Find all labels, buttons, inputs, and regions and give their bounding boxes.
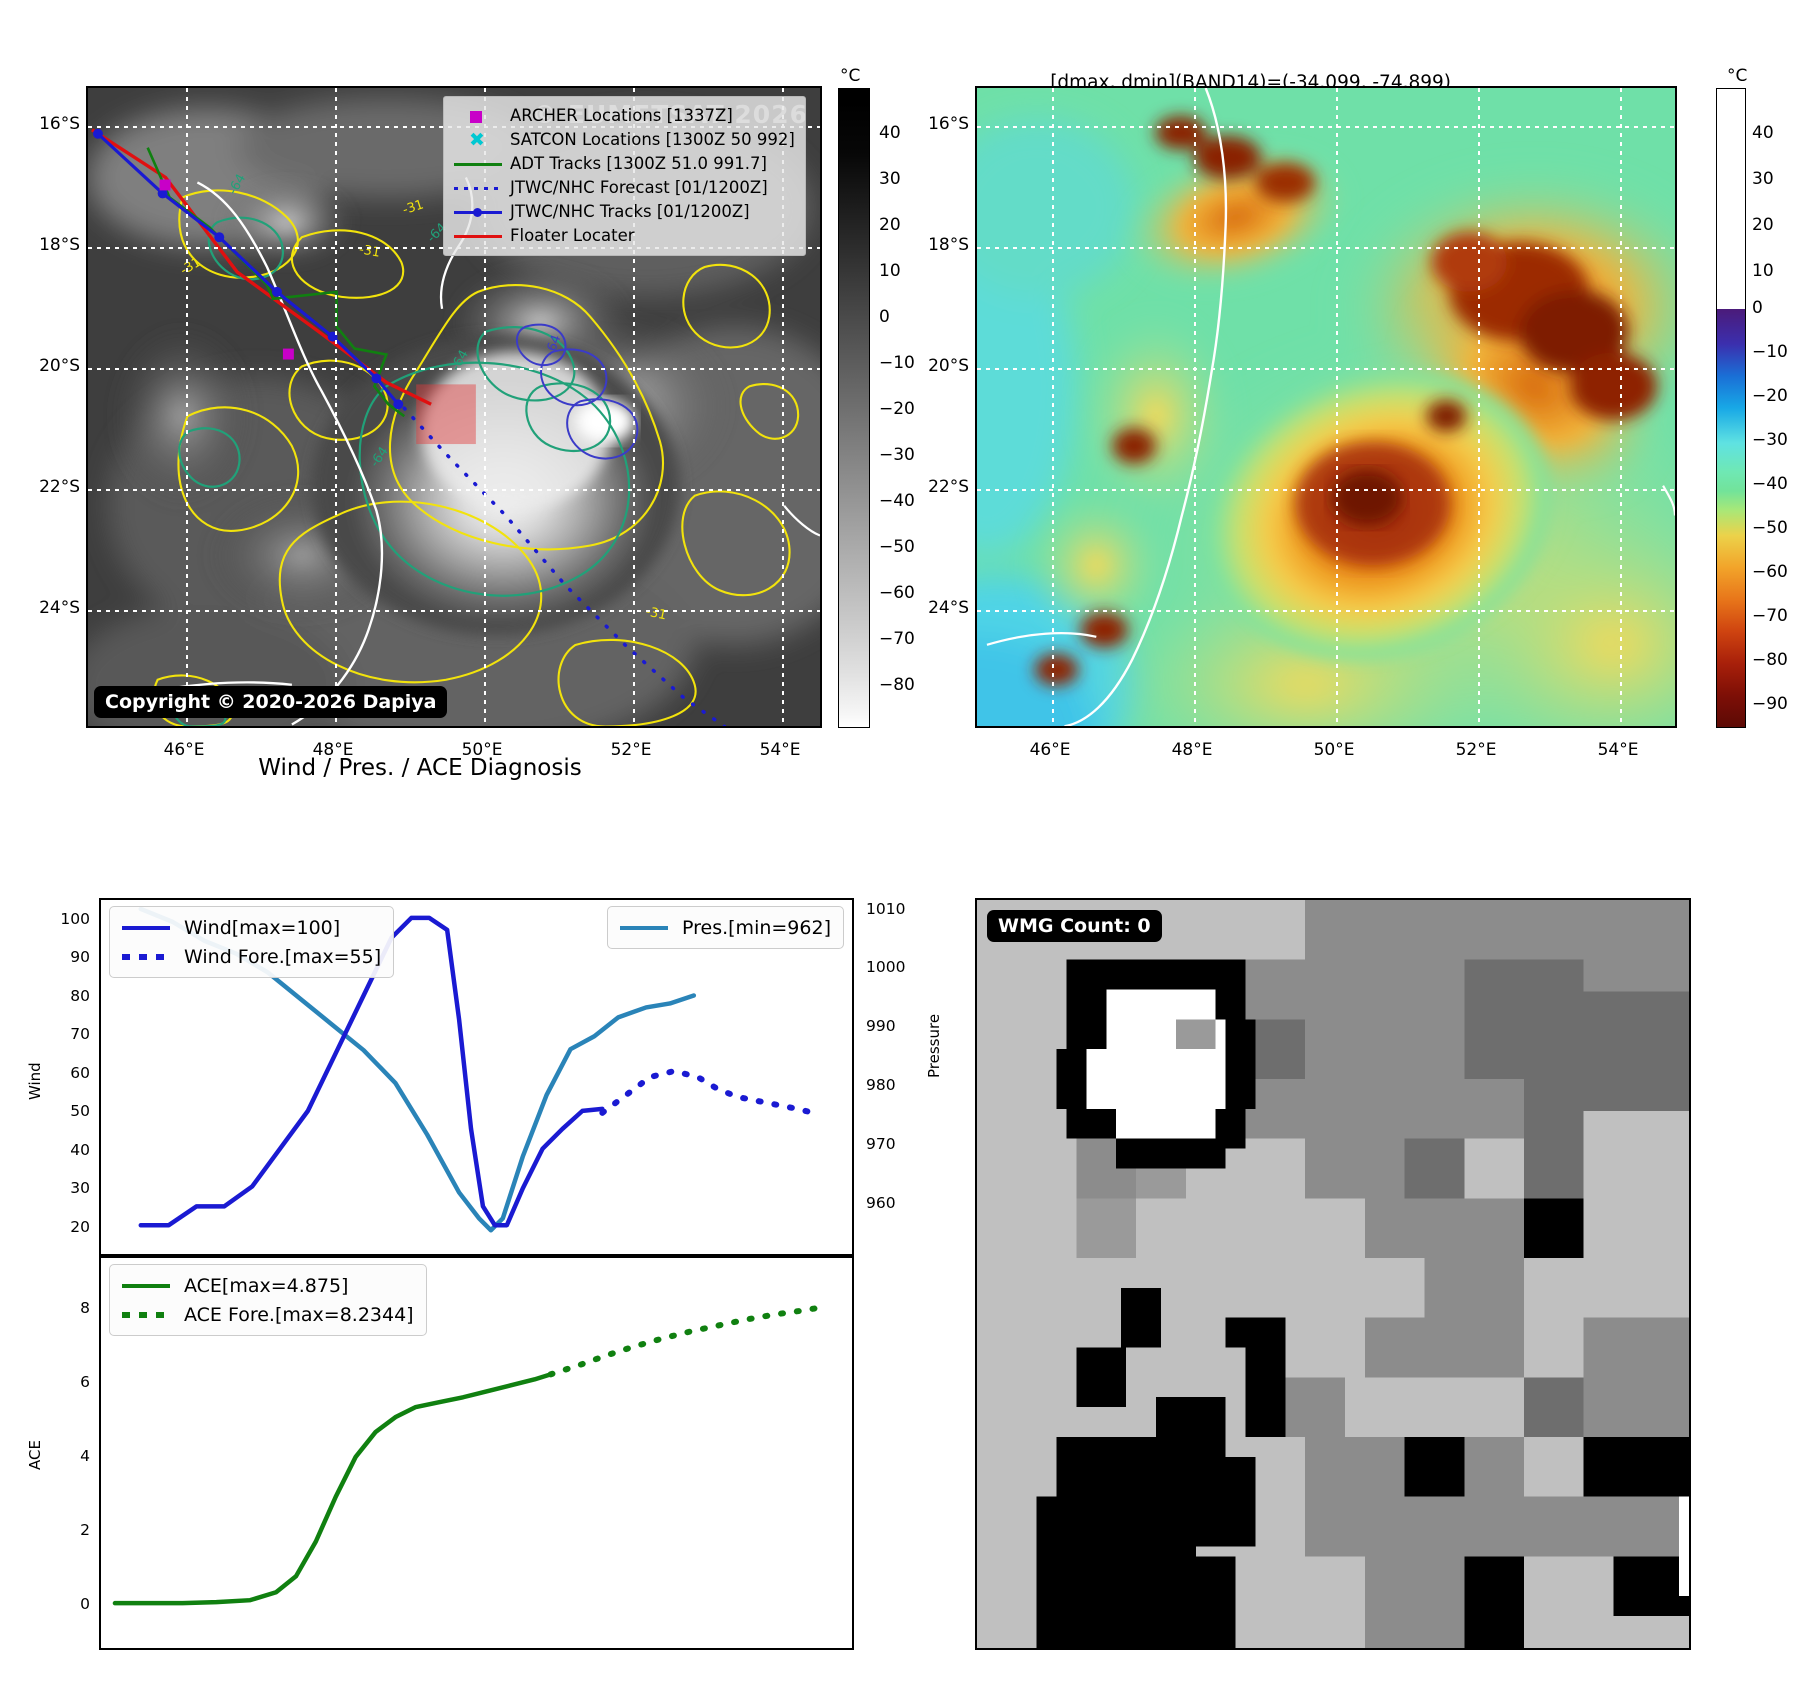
ir-cbar-tick-0: 0 [879,307,890,327]
wmg-map-panel[interactable]: WMG Count: 0 [975,898,1691,1650]
enh-cbar-tick-m40: −40 [1752,474,1788,494]
ace-tick-6: 6 [40,1373,90,1391]
ir-cbar-tick-m50: −50 [879,537,915,557]
wind-tick-50: 50 [40,1102,90,1120]
enh-cbar-tick-0: 0 [1752,298,1763,318]
enh-lat-label-16s: 16°S [915,114,969,134]
ir-cbar-tick-30: 30 [879,169,901,189]
legend-label-archer: ARCHER Locations [1337Z] [510,108,733,125]
ir-cbar-tick-20: 20 [879,215,901,235]
solid-line-icon-green [452,154,504,174]
solid-line-icon-pressure [616,918,672,938]
wind-tick-20: 20 [40,1218,90,1236]
enh-cbar-tick-10: 10 [1752,261,1774,281]
enh-cbar-tick-30: 30 [1752,169,1774,189]
enh-gridline-18s [977,247,1675,249]
ir-colorbar[interactable] [838,88,870,728]
legend-label-floater: Floater Locater [510,228,635,245]
legend-label-jtwc-forecast: JTWC/NHC Forecast [01/1200Z] [510,180,768,197]
ir-lon-label-46e: 46°E [164,740,205,760]
wind-pressure-chart[interactable]: Wind[max=100] Wind Fore.[max=55] Pres.[m… [99,898,854,1256]
pressure-axis-label: Pressure [925,1014,943,1078]
pres-tick-980: 980 [866,1076,896,1094]
enhanced-ir-map[interactable] [975,86,1677,728]
enh-lon-label-46e: 46°E [1030,740,1071,760]
dotted-line-icon-blue [452,178,504,198]
dashboard-root: METEOSAT-9 IR-3KM-DIAS FLOATER Time: 202… [0,0,1797,1690]
wind-tick-80: 80 [40,987,90,1005]
ir-cbar-tick-m80: −80 [879,675,915,695]
enh-gridline-46e [1052,88,1054,726]
ir-cbar-tick-m70: −70 [879,629,915,649]
enh-gridline-20s [977,368,1675,370]
copyright-badge: Copyright © 2020-2026 Dapiya [94,686,447,718]
ir-gridline-46e [186,88,188,726]
legend-label-wind: Wind[max=100] [184,917,340,939]
enh-gridline-52e [1478,88,1480,726]
ir-lat-label-22s: 22°S [26,477,80,497]
enh-gridline-24s [977,610,1675,612]
wind-tick-70: 70 [40,1025,90,1043]
ir-satellite-map[interactable]: -31 -31 -31 -31 -31 -64 -64 -64 -64 -64 [86,86,822,728]
enh-gridline-16s [977,126,1675,128]
wind-axis-label: Wind [26,1062,44,1100]
legend-row-ace[interactable]: ACE[max=4.875] [118,1271,414,1300]
enh-cbar-tick-m30: −30 [1752,430,1788,450]
wind-chart-legend-right: Pres.[min=962] [607,906,844,949]
enh-cbar-tick-m80: −80 [1752,650,1788,670]
legend-label-ace: ACE[max=4.875] [184,1275,348,1297]
enh-gridline-50e [1336,88,1338,726]
ace-chart-legend: ACE[max=4.875] ACE Fore.[max=8.2344] [109,1264,427,1336]
square-marker-icon [452,106,504,126]
dotted-line-icon-ace-forecast [118,1305,174,1325]
diagnosis-title: Wind / Pres. / ACE Diagnosis [258,755,581,781]
enh-gridline-54e [1620,88,1622,726]
wind-tick-60: 60 [40,1064,90,1082]
enh-cbar-tick-40: 40 [1752,123,1774,143]
floater-locater-box [416,384,476,444]
legend-label-pressure: Pres.[min=962] [682,917,831,939]
legend-row-wind[interactable]: Wind[max=100] [118,913,381,942]
enh-cbar-tick-m90: −90 [1752,694,1788,714]
enh-cbar-tick-m50: −50 [1752,518,1788,538]
ace-tick-0: 0 [40,1595,90,1613]
dotted-line-icon-wind-forecast [118,947,174,967]
enh-lon-label-54e: 54°E [1598,740,1639,760]
ir-lat-label-16s: 16°S [26,114,80,134]
ir-cbar-tick-m10: −10 [879,353,915,373]
line-with-dot-icon-blue [452,202,504,222]
enh-colorbar-units: °C [1727,66,1747,86]
enh-lon-label-52e: 52°E [1456,740,1497,760]
ace-chart[interactable]: ACE[max=4.875] ACE Fore.[max=8.2344] [99,1256,854,1650]
legend-label-wind-forecast: Wind Fore.[max=55] [184,946,381,968]
enh-gridline-48e [1194,88,1196,726]
enh-cbar-tick-m10: −10 [1752,342,1788,362]
ir-cbar-tick-40: 40 [879,123,901,143]
legend-row-jtwc-forecast[interactable]: JTWC/NHC Forecast [01/1200Z] [452,176,795,200]
legend-row-archer[interactable]: ARCHER Locations [1337Z] [452,104,795,128]
enh-lon-label-50e: 50°E [1314,740,1355,760]
enh-cbar-tick-m70: −70 [1752,606,1788,626]
ir-lon-label-52e: 52°E [611,740,652,760]
enh-colorbar[interactable] [1716,88,1746,728]
wind-tick-30: 30 [40,1179,90,1197]
ir-gridline-20s [88,368,820,370]
ir-cbar-tick-10: 10 [879,261,901,281]
enh-lat-label-18s: 18°S [915,235,969,255]
ir-cbar-tick-m30: −30 [879,445,915,465]
ir-map-legend: ARCHER Locations [1337Z] ✖ SATCON Locati… [443,96,806,256]
pres-tick-960: 960 [866,1194,896,1212]
legend-label-adt: ADT Tracks [1300Z 51.0 991.7] [510,156,767,173]
enh-lat-label-24s: 24°S [915,598,969,618]
ace-tick-2: 2 [40,1521,90,1539]
ir-lat-label-18s: 18°S [26,235,80,255]
pres-tick-1000: 1000 [866,958,905,976]
ace-tick-4: 4 [40,1447,90,1465]
legend-label-ace-forecast: ACE Fore.[max=8.2344] [184,1304,414,1326]
legend-label-satcon: SATCON Locations [1300Z 50 992] [510,132,795,149]
wind-chart-legend-left: Wind[max=100] Wind Fore.[max=55] [109,906,394,978]
ir-lat-label-24s: 24°S [26,598,80,618]
legend-label-jtwc-tracks: JTWC/NHC Tracks [01/1200Z] [510,204,750,221]
enh-lat-label-22s: 22°S [915,477,969,497]
solid-line-icon-wind [118,918,174,938]
pres-tick-1010: 1010 [866,900,905,918]
ir-gridline-22s [88,489,820,491]
solid-line-icon-red [452,226,504,246]
enh-map-imagery [977,88,1675,726]
solid-line-icon-ace [118,1276,174,1296]
enh-gridline-22s [977,489,1675,491]
enh-lon-label-48e: 48°E [1172,740,1213,760]
wind-tick-40: 40 [40,1141,90,1159]
enh-cbar-tick-20: 20 [1752,215,1774,235]
legend-row-jtwc-tracks[interactable]: JTWC/NHC Tracks [01/1200Z] [452,200,795,224]
ir-colorbar-units: °C [840,66,860,86]
ace-tick-8: 8 [40,1299,90,1317]
pres-tick-990: 990 [866,1017,896,1035]
legend-row-ace-forecast[interactable]: ACE Fore.[max=8.2344] [118,1300,414,1329]
ir-cbar-tick-m60: −60 [879,583,915,603]
enh-cbar-tick-m20: −20 [1752,386,1788,406]
legend-row-wind-forecast[interactable]: Wind Fore.[max=55] [118,942,381,971]
ir-gridline-24s [88,610,820,612]
ace-axis-label: ACE [26,1440,44,1470]
enh-lat-label-20s: 20°S [915,356,969,376]
legend-row-pressure[interactable]: Pres.[min=962] [616,913,831,942]
enh-cbar-tick-m60: −60 [1752,562,1788,582]
x-marker-icon: ✖ [452,130,504,150]
ir-cbar-tick-m40: −40 [879,491,915,511]
legend-row-adt[interactable]: ADT Tracks [1300Z 51.0 991.7] [452,152,795,176]
wmg-count-badge: WMG Count: 0 [987,910,1162,942]
wmg-raster [977,900,1689,1648]
ir-gridline-48e [335,88,337,726]
ir-lon-label-54e: 54°E [760,740,801,760]
ir-cbar-tick-m20: −20 [879,399,915,419]
legend-row-satcon[interactable]: ✖ SATCON Locations [1300Z 50 992] [452,128,795,152]
wind-tick-90: 90 [40,948,90,966]
ir-lat-label-20s: 20°S [26,356,80,376]
pres-tick-970: 970 [866,1135,896,1153]
legend-row-floater[interactable]: Floater Locater [452,224,795,248]
wind-tick-100: 100 [40,910,90,928]
